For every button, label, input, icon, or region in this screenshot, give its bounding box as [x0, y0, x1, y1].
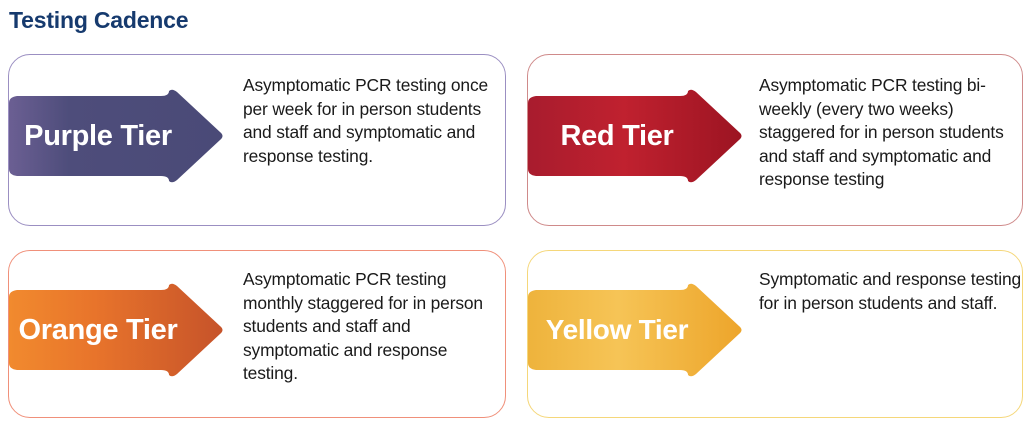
tier-description-yellow: Symptomatic and response testing for in …	[759, 268, 1021, 315]
tier-card-red: Red Tier Asymptomatic PCR testing bi-wee…	[527, 54, 1023, 226]
arrow-red: Red Tier	[528, 91, 742, 181]
tier-description-purple: Asymptomatic PCR testing once per week f…	[243, 74, 498, 168]
arrow-purple: Purple Tier	[9, 91, 223, 181]
page-title: Testing Cadence	[9, 6, 188, 34]
tier-card-purple: Purple Tier Asymptomatic PCR testing onc…	[8, 54, 506, 226]
tier-card-yellow: Yellow Tier Symptomatic and response tes…	[527, 250, 1023, 418]
tier-description-orange: Asymptomatic PCR testing monthly stagger…	[243, 268, 498, 386]
arrow-yellow: Yellow Tier	[528, 285, 742, 375]
tier-card-orange: Orange Tier Asymptomatic PCR testing mon…	[8, 250, 506, 418]
arrow-orange: Orange Tier	[9, 285, 223, 375]
tier-description-red: Asymptomatic PCR testing bi-weekly (ever…	[759, 74, 1021, 192]
testing-cadence-infographic: Testing Cadence Purple Tier Asymptomatic…	[0, 0, 1031, 434]
